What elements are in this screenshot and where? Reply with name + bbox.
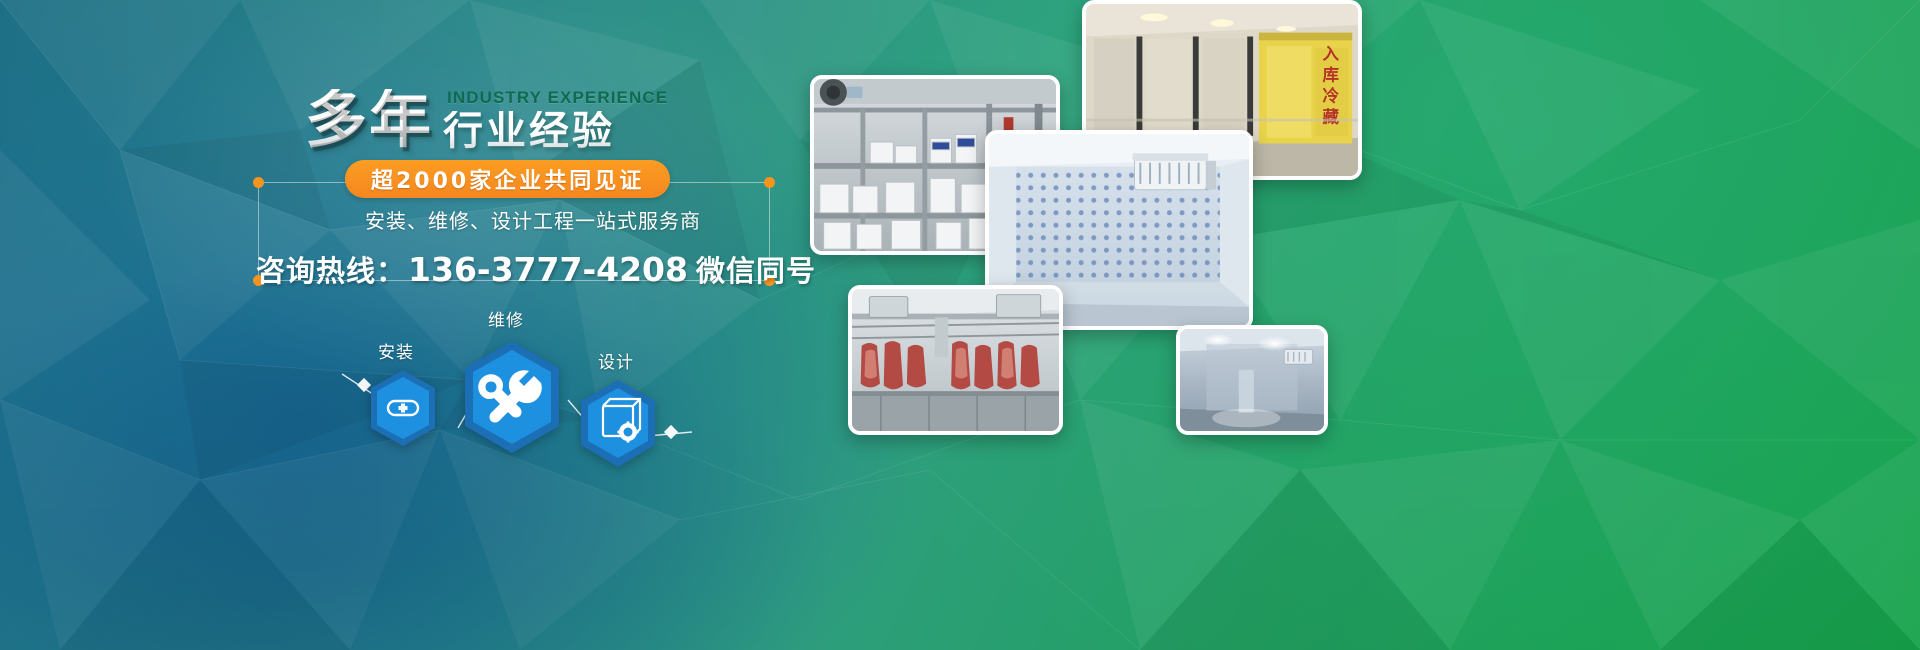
photo-cold-storage-lit-interior xyxy=(1176,325,1328,435)
service-label-install: 安装 xyxy=(378,338,414,363)
hotline-wechat-note: 微信同号 xyxy=(696,248,816,290)
service-label-repair: 维修 xyxy=(488,306,524,331)
svg-text:库: 库 xyxy=(1323,66,1339,85)
highlight-badge: 超2000家企业共同见证 xyxy=(345,160,670,198)
photo-collage: 入库 冷藏 xyxy=(800,0,1920,650)
highlight-badge-label: 超2000家企业共同见证 xyxy=(371,163,644,195)
photo-meat-cold-room xyxy=(848,285,1063,435)
headline: 多年 INDUSTRY EXPERIENCE 行业经验 xyxy=(305,88,668,151)
bracket-dot-top-left xyxy=(253,177,264,188)
plus-icon xyxy=(388,401,418,415)
service-label-design: 设计 xyxy=(598,348,634,373)
svg-text:冷: 冷 xyxy=(1323,87,1340,106)
svg-text:藏: 藏 xyxy=(1323,108,1340,127)
headline-english-text: INDUSTRY EXPERIENCE xyxy=(443,88,668,108)
left-content-panel: 多年 INDUSTRY EXPERIENCE 行业经验 超2000家企业共同见证… xyxy=(0,0,820,650)
svg-text:入: 入 xyxy=(1323,45,1340,64)
hotline-label: 咨询热线： xyxy=(256,248,406,290)
service-icons-group: 安装 维修 xyxy=(330,300,730,470)
tagline-text: 安装、维修、设计工程一站式服务商 xyxy=(365,205,701,234)
service-hex-design[interactable] xyxy=(578,378,658,470)
headline-big-text: 多年 xyxy=(305,89,433,151)
bracket-dot-top-right xyxy=(764,177,775,188)
service-hex-install[interactable] xyxy=(368,368,438,448)
banner-root: 多年 INDUSTRY EXPERIENCE 行业经验 超2000家企业共同见证… xyxy=(0,0,1920,650)
headline-right-stack: INDUSTRY EXPERIENCE 行业经验 xyxy=(443,88,668,151)
service-hex-repair[interactable] xyxy=(460,338,564,456)
hotline-number[interactable]: 136-3777-4208 xyxy=(408,250,688,289)
headline-sub-text: 行业经验 xyxy=(443,111,668,151)
hotline-block: 咨询热线： 136-3777-4208 微信同号 xyxy=(256,248,816,290)
